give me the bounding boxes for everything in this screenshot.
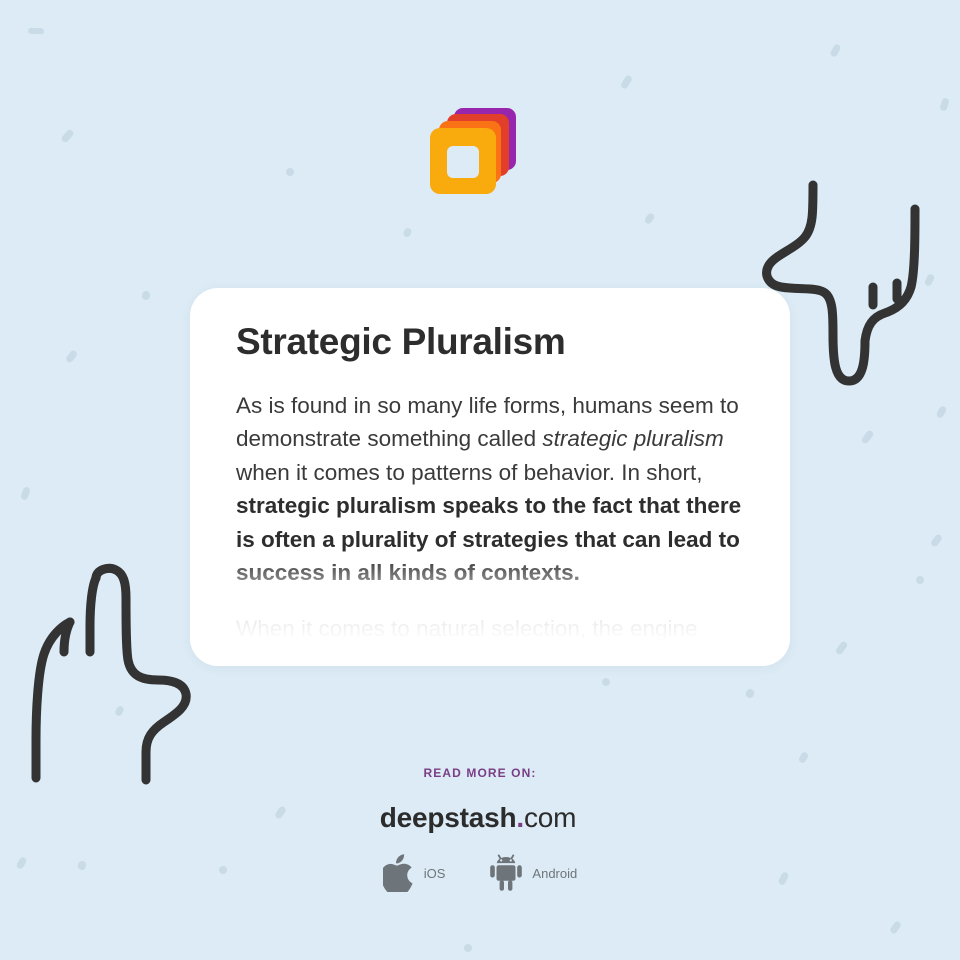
confetti-speck [829, 43, 841, 58]
brand-name: deepstash [380, 802, 517, 833]
confetti-speck [402, 227, 412, 238]
ios-label: iOS [424, 866, 446, 881]
deepstash-share-card-page: Strategic Pluralism As is found in so ma… [0, 0, 960, 960]
body-text-bold: strategic pluralism speaks to the fact t… [236, 493, 741, 585]
confetti-speck [28, 28, 44, 35]
confetti-speck [889, 920, 902, 935]
confetti-speck [935, 405, 947, 419]
android-icon [489, 854, 523, 892]
body-text-italic: strategic pluralism [542, 426, 723, 451]
idea-card: Strategic Pluralism As is found in so ma… [190, 288, 790, 666]
idea-card-content: Strategic Pluralism As is found in so ma… [190, 288, 790, 645]
confetti-speck [20, 486, 31, 501]
confetti-speck [60, 128, 74, 143]
page-title: Strategic Pluralism [236, 322, 744, 363]
hand-pointing-up-doodle [22, 560, 207, 790]
confetti-speck [285, 167, 294, 176]
confetti-speck [114, 705, 125, 717]
app-store-links: iOS [0, 854, 960, 892]
logo-center-hole [447, 146, 479, 178]
apple-icon [383, 854, 415, 892]
confetti-speck [463, 943, 472, 952]
confetti-speck [835, 640, 849, 655]
idea-body-text: As is found in so many life forms, human… [236, 389, 744, 590]
idea-body-truncated-text: When it comes to natural selection, the … [236, 612, 744, 646]
confetti-speck [924, 273, 935, 287]
confetti-speck [141, 290, 151, 301]
confetti-speck [860, 429, 874, 444]
read-more-label: READ MORE ON: [0, 766, 960, 780]
confetti-speck [939, 97, 950, 112]
confetti-speck [915, 575, 924, 584]
brand-dot: . [516, 802, 524, 833]
confetti-speck [930, 533, 943, 548]
brand-wordmark[interactable]: deepstash.com [0, 802, 960, 834]
confetti-speck [745, 688, 756, 699]
confetti-speck [65, 349, 79, 364]
confetti-speck [798, 751, 810, 764]
confetti-speck [620, 74, 633, 90]
confetti-speck [643, 212, 655, 225]
deepstash-logo [430, 108, 516, 194]
footer: READ MORE ON: deepstash.com iOS [0, 766, 960, 892]
android-label: Android [532, 866, 577, 881]
ios-app-link[interactable]: iOS [383, 854, 446, 892]
brand-tld: com [524, 802, 576, 833]
android-app-link[interactable]: Android [489, 854, 577, 892]
confetti-speck [601, 677, 611, 687]
body-text-part-2: when it comes to patterns of behavior. I… [236, 460, 703, 485]
